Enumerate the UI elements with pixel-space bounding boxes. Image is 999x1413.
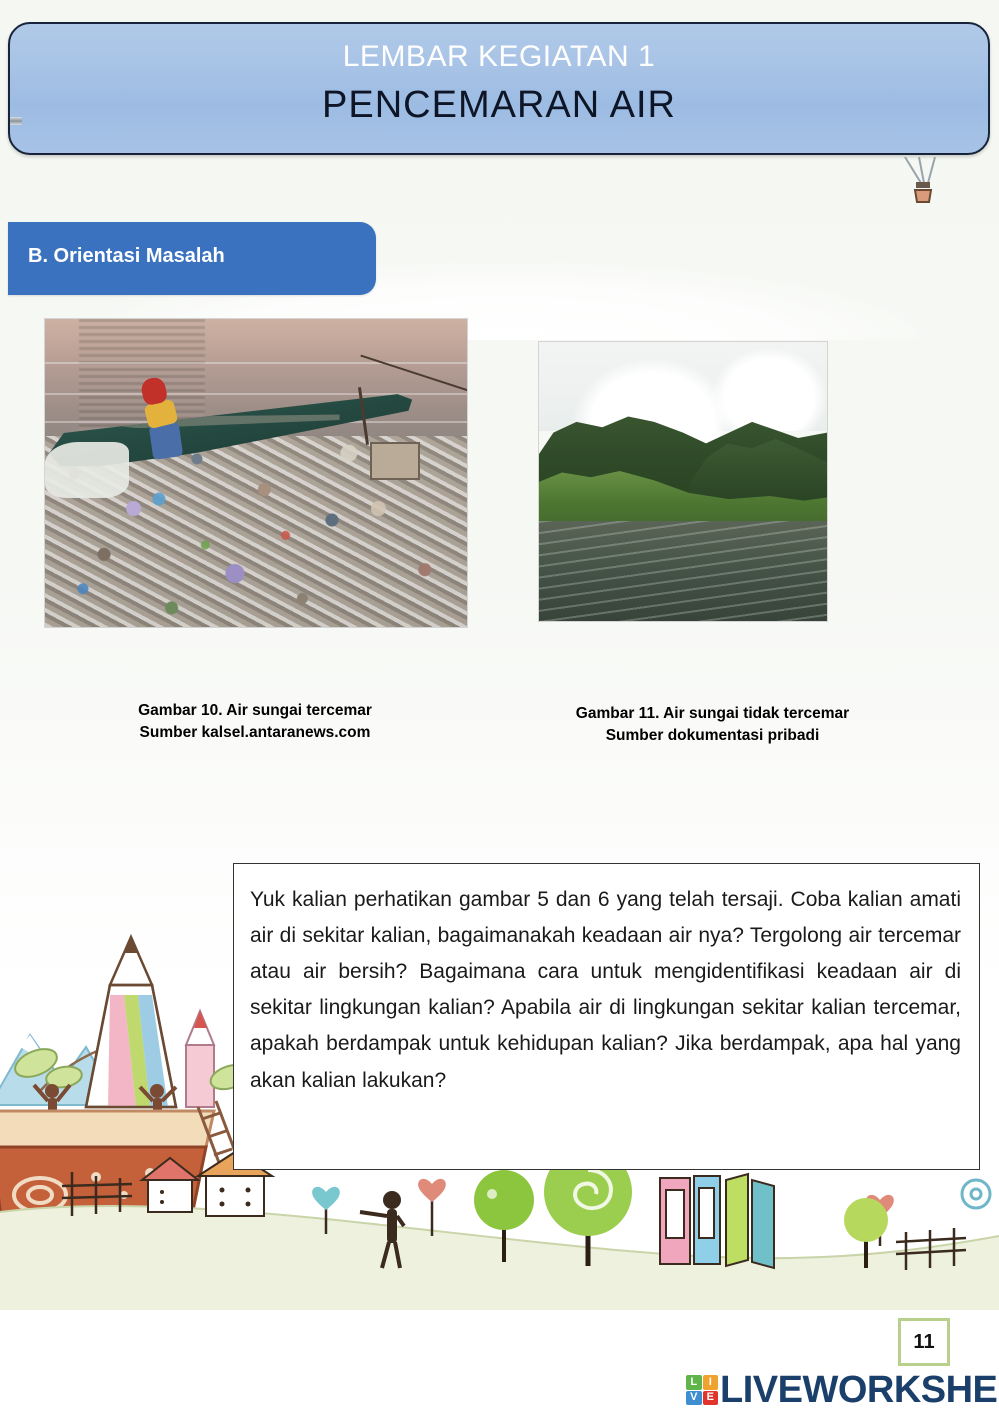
figure-10-caption-title: Gambar 10. Air sungai tercemar (138, 702, 372, 719)
banner-subtitle: LEMBAR KEGIATAN 1 (10, 40, 988, 74)
figure-11-caption-source: Sumber dokumentasi pribadi (606, 727, 820, 744)
figure-11-caption-title: Gambar 11. Air sungai tidak tercemar (576, 705, 849, 722)
figure-11 (538, 341, 828, 622)
question-text: Yuk kalian perhatikan gambar 5 dan 6 yan… (250, 882, 961, 1099)
logo-letter-e: E (703, 1391, 719, 1406)
logo-letter-l: L (686, 1375, 702, 1390)
page-number: 11 (913, 1331, 934, 1354)
photo-polluted-river (44, 318, 468, 628)
hot-air-balloon-icon (895, 157, 957, 212)
liveworksheets-logo[interactable]: L I V E LIVEWORKSHEETS (686, 1370, 999, 1410)
banner-title: PENCEMARAN AIR (10, 84, 988, 127)
figure-10 (44, 318, 468, 628)
logo-letter-v: V (686, 1391, 702, 1406)
question-text-box: Yuk kalian perhatikan gambar 5 dan 6 yan… (233, 863, 980, 1170)
water-ripple (45, 393, 467, 395)
figure-10-caption-source: Sumber kalsel.antaranews.com (140, 724, 371, 741)
bottom-border-illustration (0, 1150, 999, 1310)
page-number-box: 11 (898, 1318, 950, 1366)
title-banner: LEMBAR KEGIATAN 1 PENCEMARAN AIR (8, 22, 990, 155)
figure-10-caption: Gambar 10. Air sungai tercemarSumber kal… (60, 700, 450, 745)
cloud (712, 348, 827, 432)
clean-river-water (539, 521, 827, 621)
fishing-net (45, 442, 129, 497)
logo-letter-i: I (703, 1375, 719, 1390)
photo-clean-river (538, 341, 828, 622)
floating-basket (370, 442, 420, 480)
figure-11-caption: Gambar 11. Air sungai tidak tercemarSumb… (525, 703, 900, 748)
section-header-label: B. Orientasi Masalah (28, 245, 225, 268)
water-ripple (45, 362, 467, 364)
logo-wordmark: LIVEWORKSHEETS (720, 1369, 999, 1412)
section-header-orientasi-masalah: B. Orientasi Masalah (8, 222, 376, 295)
liveworksheets-logo-squares: L I V E (686, 1375, 718, 1405)
